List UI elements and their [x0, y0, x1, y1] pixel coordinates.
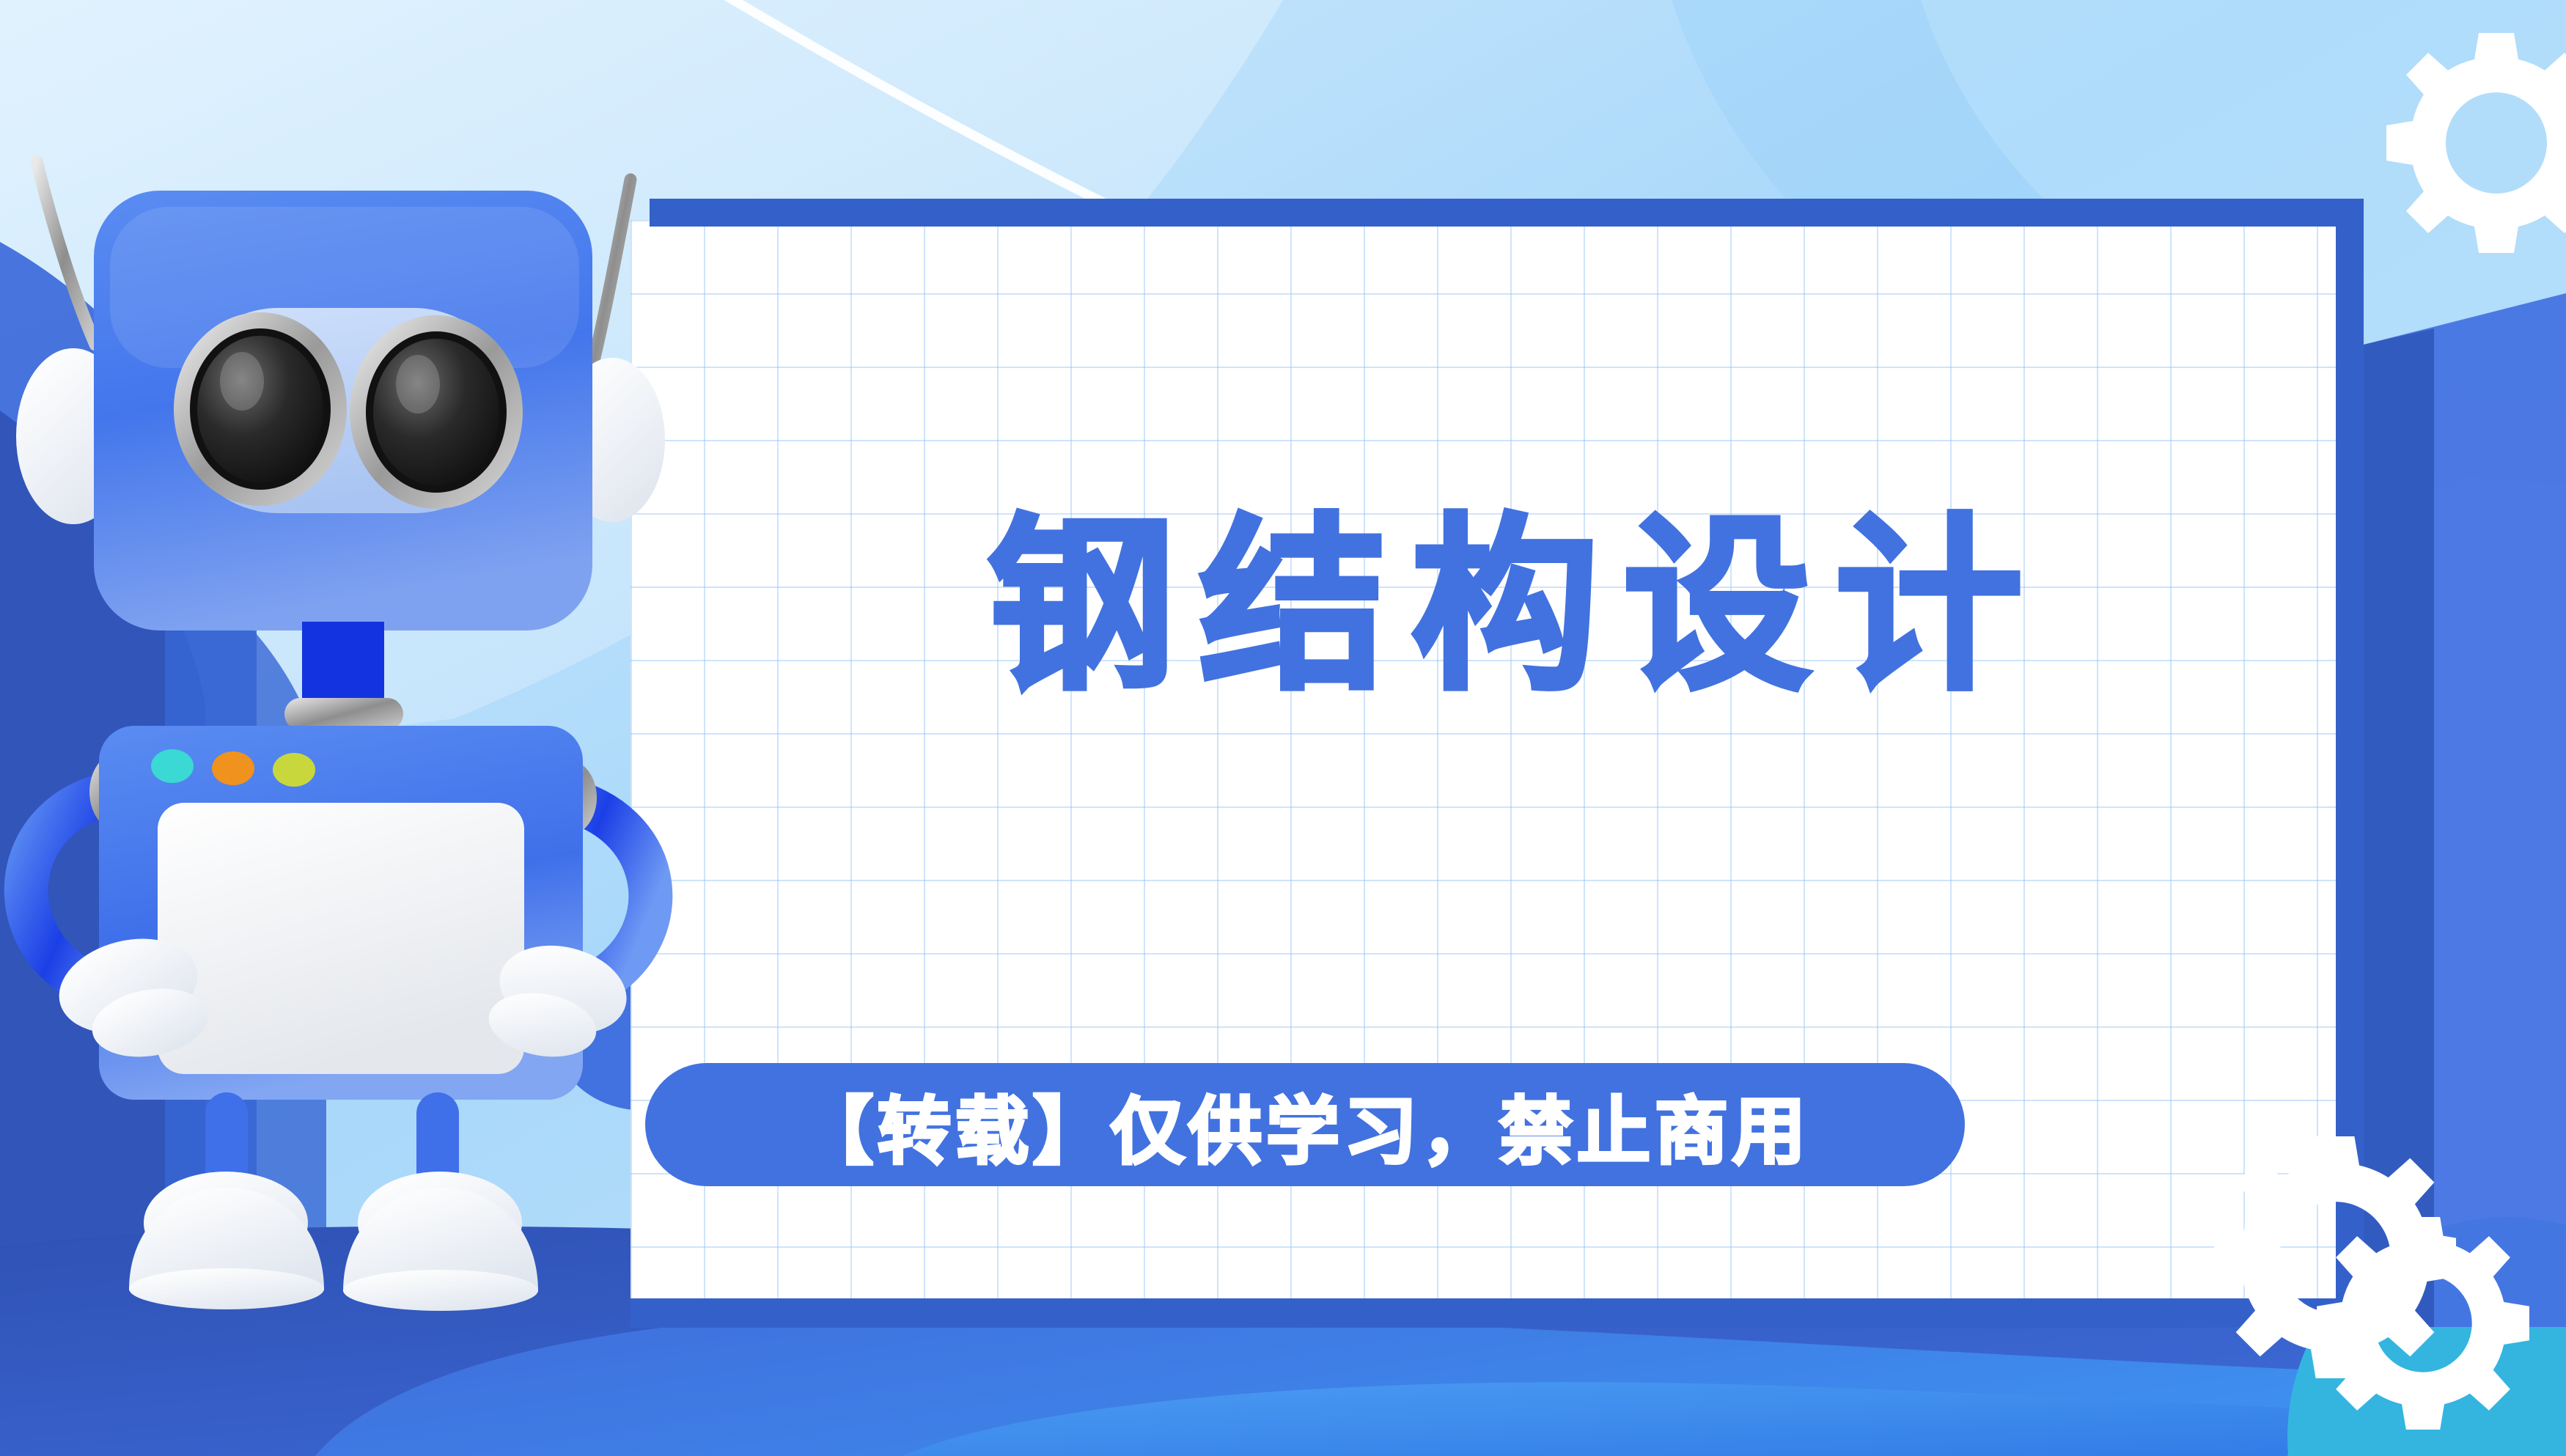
robot-neck — [302, 622, 384, 710]
robot-chest-screen — [158, 803, 524, 1074]
page-title: 钢结构设计 — [689, 506, 2346, 707]
robot-mascot — [0, 147, 689, 1334]
notice-banner-label: 【转载】仅供学习，禁止商用 — [800, 1072, 1810, 1178]
gear-icon — [2386, 33, 2566, 253]
robot-indicator-dot-cyan — [151, 749, 194, 783]
card-frame-bottom-bar — [631, 1298, 2364, 1328]
robot-eye-left — [174, 312, 347, 506]
robot-foot-left — [129, 1172, 324, 1309]
robot-illustration — [0, 147, 689, 1334]
robot-eye-right — [350, 315, 523, 509]
poster-canvas: 钢结构设计 【转载】仅供学习，禁止商用 — [0, 0, 2566, 1456]
card-frame-top-bar — [650, 199, 2364, 227]
robot-foot-right — [343, 1172, 538, 1311]
notice-banner: 【转载】仅供学习，禁止商用 — [645, 1063, 1965, 1186]
robot-neck-collar — [284, 698, 403, 730]
robot-antenna-right — [592, 180, 631, 367]
robot-indicator-dot-yellow — [273, 753, 315, 787]
robot-indicator-dot-orange — [212, 751, 254, 785]
robot-antenna-left — [37, 161, 95, 345]
gear-icon — [2317, 1217, 2529, 1430]
